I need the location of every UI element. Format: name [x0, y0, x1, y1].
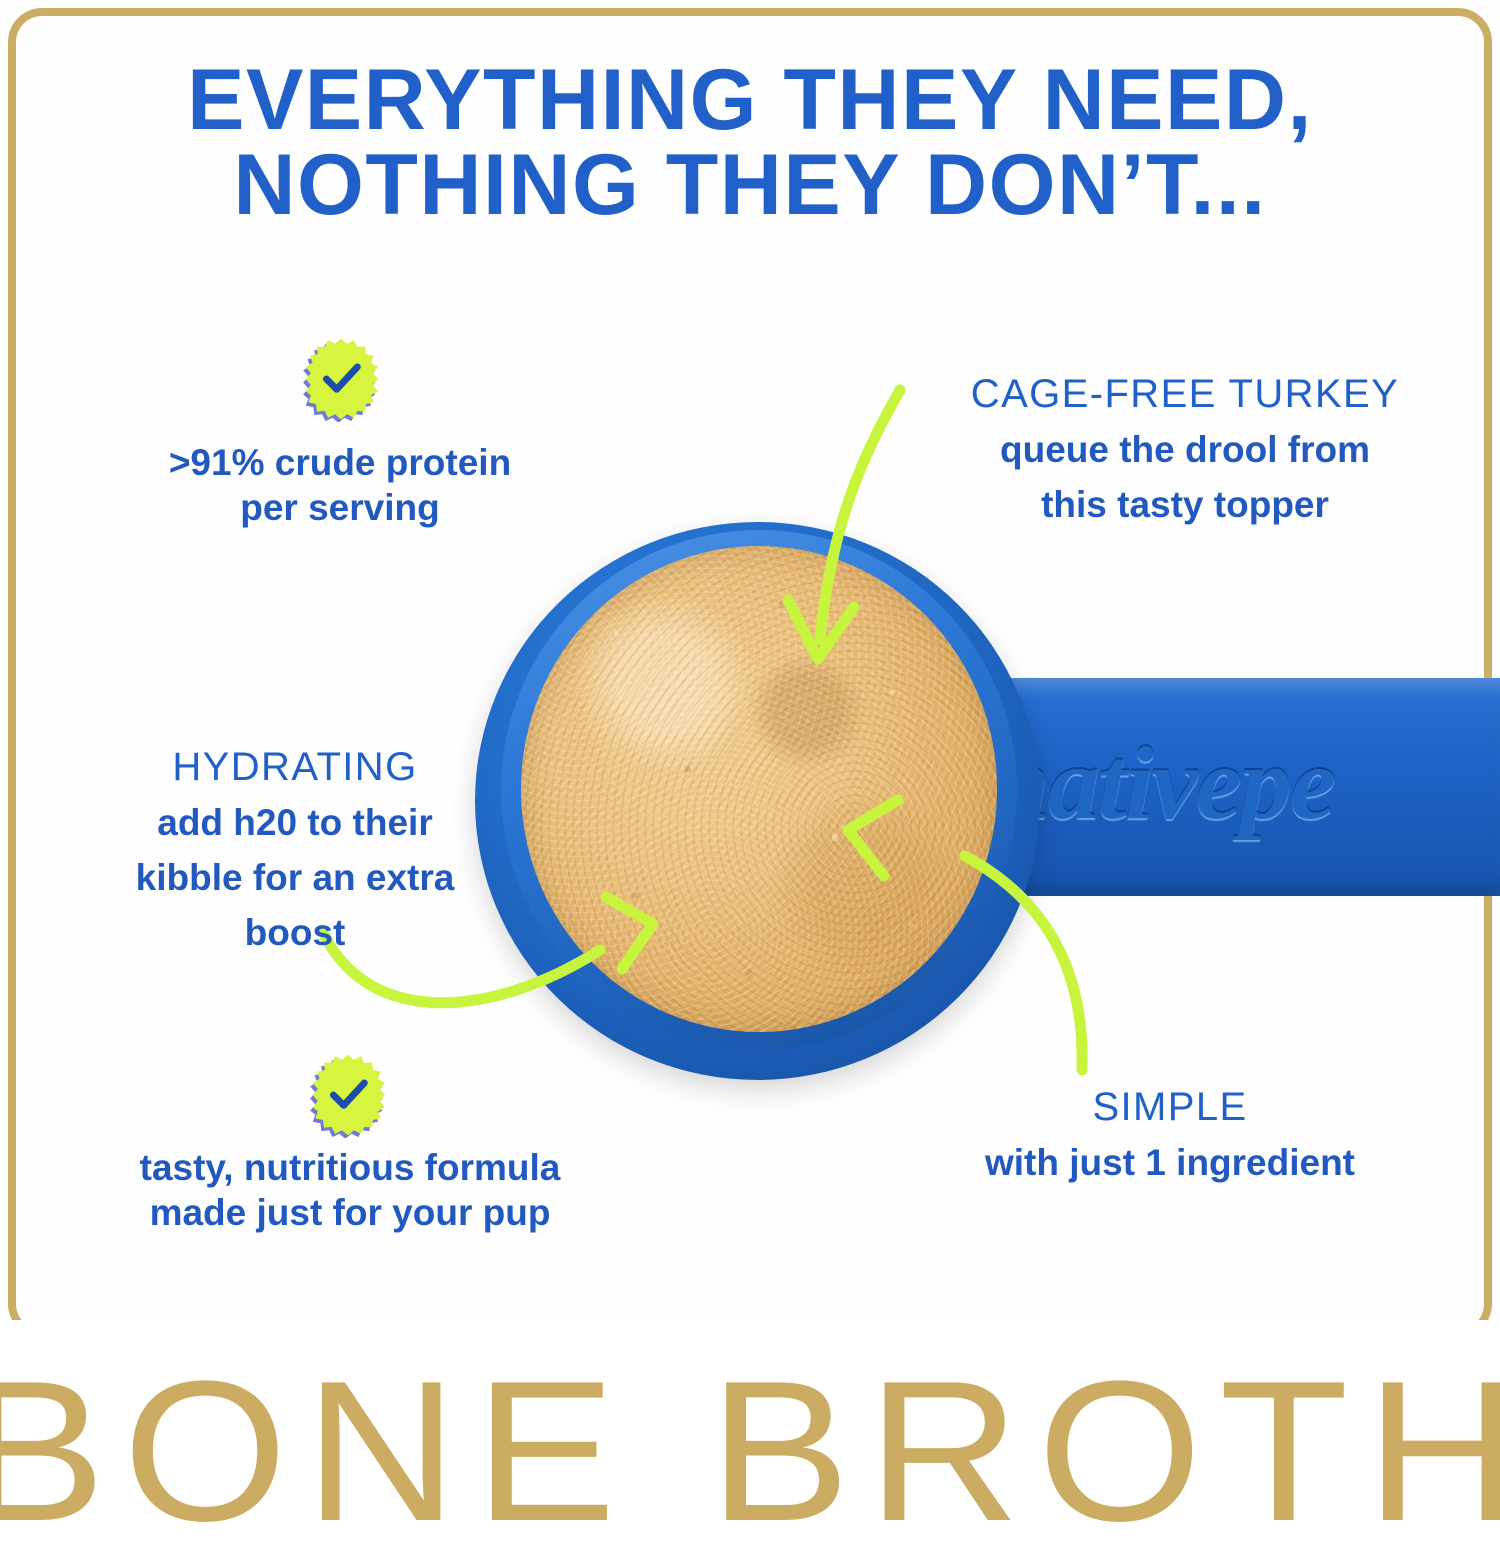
check-badge-tasty: [305, 1052, 391, 1138]
callout-hydrating: HYDRATING add h20 to their kibble for an…: [70, 745, 520, 955]
callout-tasty-line-1: tasty, nutritious formula: [110, 1145, 590, 1190]
callout-protein: >91% crude protein per serving: [105, 440, 575, 530]
callout-hydrating-line-2: kibble for an extra: [70, 855, 520, 900]
callout-turkey-heading: CAGE-FREE TURKEY: [900, 372, 1470, 417]
product-wordmark: BONE BROTH: [0, 1352, 1500, 1552]
callout-turkey-line-2: this tasty topper: [900, 482, 1470, 527]
callout-turkey-line-1: queue the drool from: [900, 427, 1470, 472]
scoop-cup-body: [475, 522, 1040, 1080]
callout-protein-line-1: >91% crude protein: [105, 440, 575, 485]
callout-hydrating-line-1: add h20 to their: [70, 800, 520, 845]
scoop-cup-rim: [501, 530, 1017, 1050]
callout-turkey: CAGE-FREE TURKEY queue the drool from th…: [900, 372, 1470, 527]
bone-broth-powder: [521, 546, 997, 1032]
brand-emboss-text: nativepe: [992, 724, 1500, 843]
headline-line-2: NOTHING THEY DON’T...: [0, 143, 1500, 228]
callout-tasty-line-2: made just for your pup: [110, 1190, 590, 1235]
page-title: EVERYTHING THEY NEED, NOTHING THEY DON’T…: [0, 58, 1500, 228]
callout-hydrating-line-3: boost: [70, 910, 520, 955]
callout-simple-line-1: with just 1 ingredient: [960, 1140, 1380, 1185]
callout-tasty: tasty, nutritious formula made just for …: [110, 1145, 590, 1235]
product-scoop-photo: nativepe: [455, 500, 1500, 1100]
callout-simple-heading: SIMPLE: [960, 1085, 1380, 1130]
callout-simple: SIMPLE with just 1 ingredient: [960, 1085, 1380, 1185]
check-badge-protein: [298, 336, 384, 422]
callout-hydrating-heading: HYDRATING: [70, 745, 520, 790]
callout-protein-line-2: per serving: [105, 485, 575, 530]
headline-line-1: EVERYTHING THEY NEED,: [0, 58, 1500, 143]
